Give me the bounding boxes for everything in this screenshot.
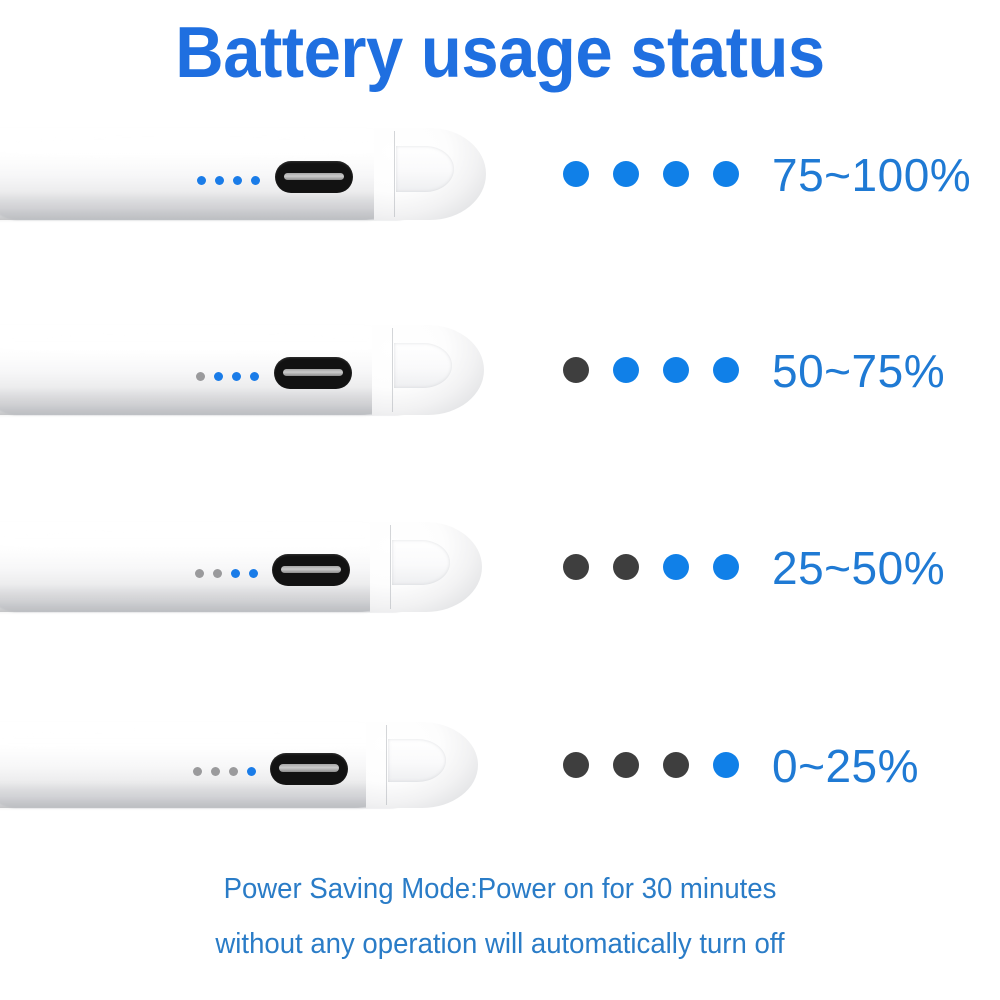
status-dot-group <box>563 554 739 580</box>
led-indicator-icon <box>213 569 222 578</box>
usb-c-port-icon <box>272 554 350 586</box>
pen-highlight <box>0 730 390 752</box>
pen-cap-seam <box>386 725 387 806</box>
led-indicator-icon <box>211 767 220 776</box>
status-dot-icon <box>563 161 589 187</box>
pen-cap-seam <box>394 131 395 217</box>
pen-led-indicator-group <box>193 767 256 776</box>
usb-c-port-slot <box>283 369 342 376</box>
usb-c-port-icon <box>275 161 353 193</box>
power-saving-note-line1: Power Saving Mode:Power on for 30 minute… <box>25 862 975 917</box>
status-dot-group <box>563 161 739 187</box>
status-dot-group <box>563 752 739 778</box>
status-dot-icon <box>613 554 639 580</box>
usb-c-port-slot <box>281 566 340 573</box>
pen-cap-seam <box>392 328 393 413</box>
led-indicator-icon <box>229 767 238 776</box>
battery-range-label: 50~75% <box>772 348 945 394</box>
pen-cap-inner <box>394 343 452 388</box>
led-indicator-icon <box>231 569 240 578</box>
pen-highlight <box>0 333 396 356</box>
pen-highlight <box>0 136 398 160</box>
battery-range-label: 75~100% <box>772 152 971 198</box>
battery-status-row: 75~100% <box>0 128 1000 248</box>
usb-c-port-icon <box>274 357 352 389</box>
led-indicator-icon <box>197 176 206 185</box>
led-indicator-icon <box>247 767 256 776</box>
status-dot-icon <box>713 357 739 383</box>
status-dot-icon <box>613 161 639 187</box>
usb-c-port-icon <box>270 753 348 785</box>
stylus-pen-icon <box>0 522 482 612</box>
pen-led-indicator-group <box>195 569 258 578</box>
status-dot-group <box>563 357 739 383</box>
led-indicator-icon <box>232 372 241 381</box>
pen-led-indicator-group <box>196 372 259 381</box>
battery-status-infographic: { "title": "Battery usage status", "colo… <box>0 0 1000 1000</box>
battery-status-row: 50~75% <box>0 325 1000 445</box>
pen-led-indicator-group <box>197 176 260 185</box>
pen-cap-inner <box>388 739 446 782</box>
pen-highlight <box>0 530 394 553</box>
usb-c-port-slot <box>284 173 343 180</box>
led-indicator-icon <box>214 372 223 381</box>
battery-range-label: 0~25% <box>772 743 919 789</box>
pen-cap-inner <box>392 540 450 585</box>
stylus-pen-icon <box>0 722 478 808</box>
status-dot-icon <box>663 357 689 383</box>
led-indicator-icon <box>196 372 205 381</box>
status-dot-icon <box>563 357 589 383</box>
battery-status-row: 25~50% <box>0 522 1000 642</box>
led-indicator-icon <box>251 176 260 185</box>
status-dot-icon <box>663 554 689 580</box>
status-dot-icon <box>613 752 639 778</box>
battery-range-label: 25~50% <box>772 545 945 591</box>
status-dot-icon <box>663 752 689 778</box>
led-indicator-icon <box>193 767 202 776</box>
usb-c-port-slot <box>279 764 338 771</box>
led-indicator-icon <box>249 569 258 578</box>
pen-shadow <box>0 585 424 612</box>
status-dot-icon <box>563 554 589 580</box>
stylus-pen-icon <box>0 128 486 220</box>
led-indicator-icon <box>233 176 242 185</box>
status-dot-icon <box>563 752 589 778</box>
pen-cap-seam <box>390 525 391 610</box>
status-dot-icon <box>713 161 739 187</box>
stylus-pen-icon <box>0 325 484 415</box>
pen-shadow <box>0 388 426 415</box>
status-dot-icon <box>713 752 739 778</box>
led-indicator-icon <box>215 176 224 185</box>
pen-shadow <box>0 782 420 808</box>
status-dot-icon <box>663 161 689 187</box>
pen-shadow <box>0 192 428 220</box>
power-saving-note-line2: without any operation will automatically… <box>25 917 975 972</box>
power-saving-note: Power Saving Mode:Power on for 30 minute… <box>25 862 975 972</box>
led-indicator-icon <box>195 569 204 578</box>
status-dot-icon <box>613 357 639 383</box>
battery-status-row: 0~25% <box>0 722 1000 842</box>
led-indicator-icon <box>250 372 259 381</box>
status-dot-icon <box>713 554 739 580</box>
page-title: Battery usage status <box>35 14 965 93</box>
